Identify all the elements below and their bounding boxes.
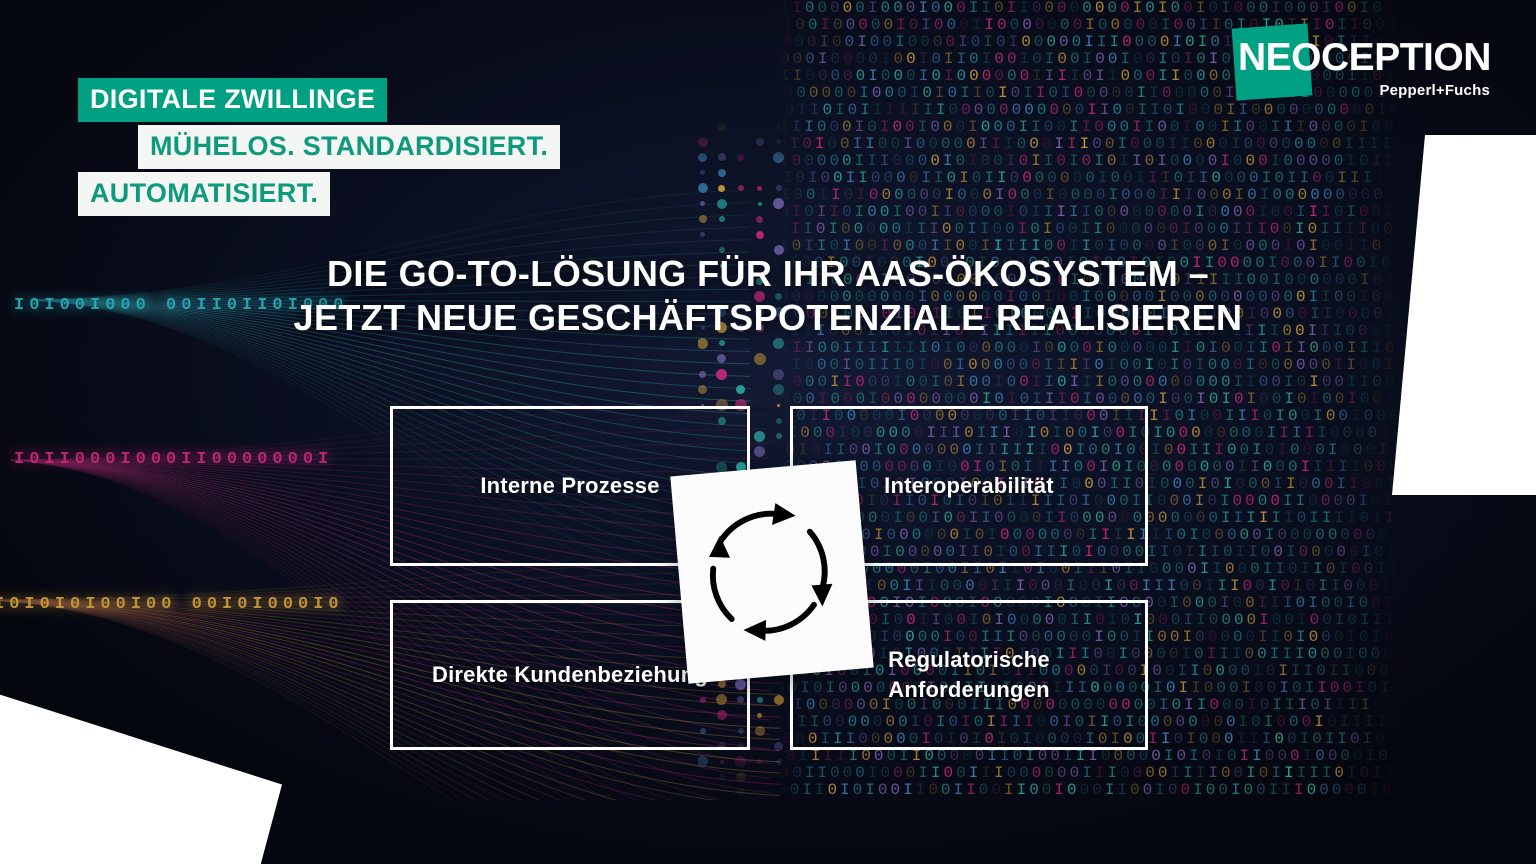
benefit-box-label: Interoperabilität (884, 471, 1054, 501)
headline-line-2: JETZT NEUE GESCHÄFTSPOTENZIALE REALISIER… (0, 296, 1536, 340)
logo-tagline: Pepperl+Fuchs (1379, 82, 1490, 99)
benefit-box-label: Direkte Kundenbeziehung (432, 660, 708, 690)
circular-arrows-cycle-icon (688, 488, 856, 656)
slide-canvas: III00000I000I000II0II00000000I0I00I0I000… (0, 0, 1536, 864)
kicker-line-2: MÜHELOS. STANDARDISIERT. (138, 125, 560, 169)
kicker-line-1: DIGITALE ZWILLINGE (78, 78, 387, 122)
headline-line-1: DIE GO-TO-LÖSUNG FÜR IHR AAS-ÖKOSYSTEM – (0, 252, 1536, 296)
benefit-box-label: Interne Prozesse (480, 471, 659, 501)
logo-wordmark: NEOCEPTION (1238, 38, 1491, 77)
logo-mark-neo: NEO (1238, 36, 1321, 79)
cycle-tile (670, 460, 873, 683)
neoception-logo[interactable]: NEOCEPTION Pepperl+Fuchs (1234, 22, 1492, 106)
logo-word-ception: CEPTION (1321, 36, 1491, 79)
page-title: DIE GO-TO-LÖSUNG FÜR IHR AAS-ÖKOSYSTEM –… (0, 252, 1536, 340)
kicker-line-3: AUTOMATISIERT. (78, 172, 330, 216)
kicker-block: DIGITALE ZWILLINGE MÜHELOS. STANDARDISIE… (78, 78, 560, 216)
